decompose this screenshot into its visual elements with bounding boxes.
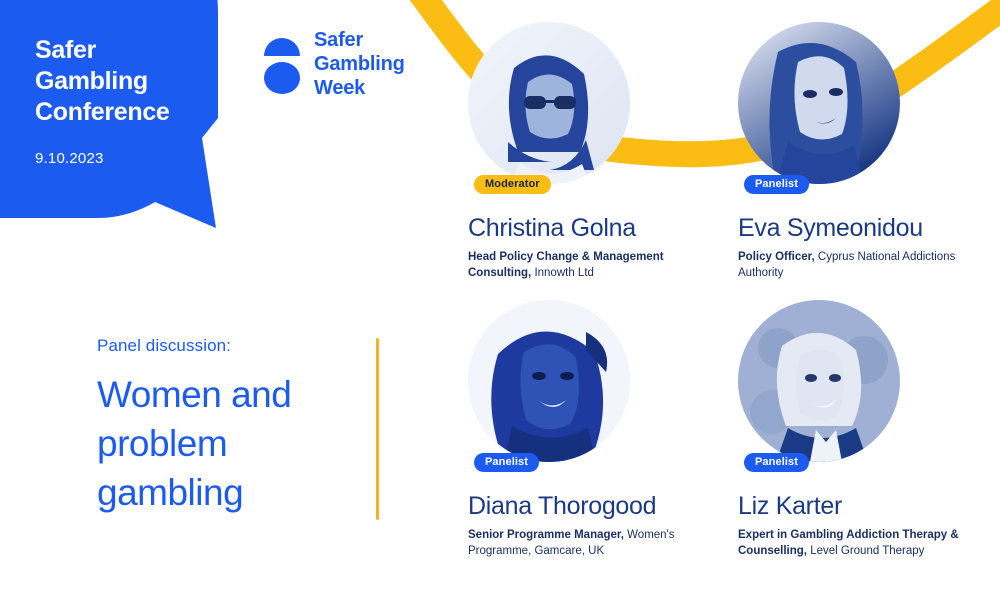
speaker-card: Panelist Diana Thorogood Senior Programm… <box>452 300 722 578</box>
sgw-logo-line-3: Week <box>314 76 405 100</box>
speaker-role-rest: Innowth Ltd <box>531 267 594 279</box>
panel-kicker: Panel discussion: <box>97 336 367 356</box>
speaker-role: Head Policy Change & Management Consulti… <box>468 250 704 281</box>
portrait-wrap: Panelist <box>738 300 900 462</box>
panel-heading-line-1: Women and <box>97 370 367 419</box>
panel-heading: Women and problem gambling <box>97 370 367 517</box>
sgw-logo-line-2: Gambling <box>314 52 405 76</box>
speaker-role: Expert in Gambling Addiction Therapy & C… <box>738 528 974 559</box>
speaker-name: Eva Symeonidou <box>738 214 992 243</box>
speaker-role-rest: Level Ground Therapy <box>807 545 924 557</box>
status-badge: Panelist <box>474 453 539 472</box>
sgw-logo-line-1: Safer <box>314 28 405 52</box>
status-badge: Panelist <box>744 453 809 472</box>
portrait-wrap: Panelist <box>738 22 900 184</box>
conference-poster: Safer Gambling Conference 9.10.2023 Safe… <box>0 0 1000 600</box>
bubble-text-block: Safer Gambling Conference 9.10.2023 <box>35 35 245 167</box>
status-badge: Panelist <box>744 175 809 194</box>
panel-heading-line-2: problem <box>97 419 367 468</box>
speaker-role-bold: Senior Programme Manager, <box>468 529 624 541</box>
conference-title-line-3: Conference <box>35 97 245 128</box>
speakers-grid: Moderator Christina Golna Head Policy Ch… <box>452 22 992 578</box>
sgw-logo-text: Safer Gambling Week <box>314 28 405 100</box>
vertical-divider <box>376 338 379 520</box>
speaker-name: Christina Golna <box>468 214 722 243</box>
status-badge: Moderator <box>474 175 551 194</box>
speaker-card: Panelist Liz Karter Expert in Gambling A… <box>722 300 992 578</box>
conference-title-line-1: Safer <box>35 35 245 66</box>
safer-gambling-week-logo: Safer Gambling Week <box>262 28 405 100</box>
panel-discussion-block: Panel discussion: Women and problem gamb… <box>97 336 367 517</box>
conference-date: 9.10.2023 <box>35 150 245 167</box>
portrait-liz-karter <box>738 300 900 462</box>
speaker-card: Moderator Christina Golna Head Policy Ch… <box>452 22 722 300</box>
sgw-mark-icon <box>262 28 302 94</box>
portrait-christina-golna <box>468 22 630 184</box>
portrait-wrap: Moderator <box>468 22 630 184</box>
conference-title: Safer Gambling Conference <box>35 35 245 128</box>
speaker-name: Diana Thorogood <box>468 492 722 521</box>
portrait-eva-symeonidou <box>738 22 900 184</box>
speaker-role: Policy Officer, Cyprus National Addictio… <box>738 250 974 281</box>
conference-title-line-2: Gambling <box>35 66 245 97</box>
speaker-name: Liz Karter <box>738 492 992 521</box>
portrait-diana-thorogood <box>468 300 630 462</box>
speech-bubble: Safer Gambling Conference 9.10.2023 <box>0 0 260 260</box>
portrait-wrap: Panelist <box>468 300 630 462</box>
speaker-role-bold: Policy Officer, <box>738 251 815 263</box>
speaker-card: Panelist Eva Symeonidou Policy Officer, … <box>722 22 992 300</box>
speaker-role: Senior Programme Manager, Women's Progra… <box>468 528 704 559</box>
panel-heading-line-3: gambling <box>97 468 367 517</box>
